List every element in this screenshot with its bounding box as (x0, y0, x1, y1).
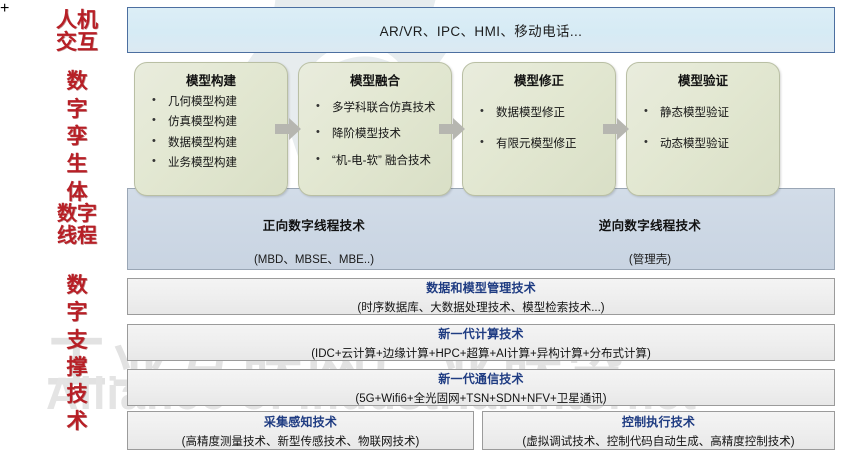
model-box-correction[interactable]: 模型修正 数据模型修正 有限元模型修正 (462, 62, 616, 196)
support-row-title: 新一代通信技术 (438, 370, 523, 387)
rail-label-human-machine-interaction: 人机 交互 (42, 10, 112, 54)
list-item: 几何模型构建 (149, 95, 281, 109)
rail-label-digital-twin: 数 字 孪 生 体 (56, 68, 98, 207)
support-row-control-execution[interactable]: 控制执行技术 (虚拟调试技术、控制代码自动生成、高精度控制技术) (482, 411, 835, 450)
model-box-construction-list: 几何模型构建 仿真模型构建 数据模型构建 业务模型构建 (135, 95, 287, 171)
digital-thread-band: 正向数字线程技术 (MBD、MBSE、MBE..) 逆向数字线程技术 (管理壳) (127, 188, 835, 270)
diagram-canvas: 工业互联网产业联盟 Alliance of Industrial Interne… (0, 0, 841, 463)
list-item: 业务模型构建 (149, 156, 281, 170)
list-item: 仿真模型构建 (149, 115, 281, 129)
arrow-right-icon (275, 117, 301, 141)
list-item: 数据模型构建 (149, 136, 281, 150)
thread-reverse-title: 逆向数字线程技术 (500, 215, 800, 234)
support-row-subtitle: (5G+Wifi6+全光固网+TSN+SDN+NFV+卫星通讯) (355, 390, 606, 406)
support-row-subtitle: (虚拟调试技术、控制代码自动生成、高精度控制技术) (522, 433, 794, 449)
model-box-construction[interactable]: 模型构建 几何模型构建 仿真模型构建 数据模型构建 业务模型构建 (134, 62, 288, 196)
model-box-fusion-list: 多学科联合仿真技术 降阶模型技术 “机-电-软” 融合技术 (299, 101, 451, 168)
rail-label-digital-thread: 数字 线程 (46, 203, 108, 248)
list-item: 降阶模型技术 (313, 127, 445, 141)
model-box-construction-title: 模型构建 (135, 70, 287, 89)
support-row-title: 控制执行技术 (622, 413, 695, 430)
list-item: 多学科联合仿真技术 (313, 101, 445, 115)
support-row-sensing-acquisition[interactable]: 采集感知技术 (高精度测量技术、新型传感技术、物联网技术) (127, 411, 474, 450)
thread-forward-title: 正向数字线程技术 (164, 215, 464, 234)
model-box-fusion[interactable]: 模型融合 多学科联合仿真技术 降阶模型技术 “机-电-软” 融合技术 (298, 62, 452, 196)
list-item: 静态模型验证 (641, 106, 773, 120)
hmi-banner: AR/VR、IPC、HMI、移动电话... (127, 7, 835, 53)
support-row-subtitle: (高精度测量技术、新型传感技术、物联网技术) (182, 433, 420, 449)
support-row-subtitle: (时序数据库、大数据处理技术、模型检索技术...) (357, 299, 604, 315)
thread-forward-subtitle: (MBD、MBSE、MBE..) (164, 251, 464, 267)
support-row-next-gen-computing[interactable]: 新一代计算技术 (IDC+云计算+边缘计算+HPC+超算+AI计算+异构计算+分… (127, 324, 835, 361)
arrow-right-icon (439, 117, 465, 141)
model-box-fusion-title: 模型融合 (299, 70, 451, 89)
model-box-correction-list: 数据模型修正 有限元模型修正 (463, 106, 615, 152)
thread-reverse-subtitle: (管理壳) (500, 251, 800, 267)
support-row-title: 数据和模型管理技术 (426, 279, 536, 296)
list-item: “机-电-软” 融合技术 (313, 154, 445, 168)
support-row-title: 采集感知技术 (264, 413, 337, 430)
support-row-next-gen-communication[interactable]: 新一代通信技术 (5G+Wifi6+全光固网+TSN+SDN+NFV+卫星通讯) (127, 369, 835, 406)
model-box-verification-list: 静态模型验证 动态模型验证 (627, 106, 779, 152)
rail-label-digital-support-technology: 数 字 支 撑 技 术 (56, 272, 98, 436)
model-box-verification-title: 模型验证 (627, 70, 779, 89)
support-row-title: 新一代计算技术 (438, 325, 523, 342)
support-row-subtitle: (IDC+云计算+边缘计算+HPC+超算+AI计算+异构计算+分布式计算) (311, 345, 651, 361)
thread-reverse-column: 逆向数字线程技术 (管理壳) (500, 215, 800, 267)
model-box-correction-title: 模型修正 (463, 70, 615, 89)
list-item: 数据模型修正 (477, 106, 609, 120)
model-box-verification[interactable]: 模型验证 静态模型验证 动态模型验证 (626, 62, 780, 196)
support-row-data-model-management[interactable]: 数据和模型管理技术 (时序数据库、大数据处理技术、模型检索技术...) (127, 278, 835, 315)
layer-label-rail: 人机 交互 数 字 孪 生 体 数字 线程 数 字 支 撑 技 术 (0, 0, 122, 463)
list-item: 有限元模型修正 (477, 137, 609, 151)
thread-forward-column: 正向数字线程技术 (MBD、MBSE、MBE..) (164, 215, 464, 267)
list-item: 动态模型验证 (641, 137, 773, 151)
arrow-right-icon (603, 117, 629, 141)
hmi-banner-text: AR/VR、IPC、HMI、移动电话... (380, 20, 583, 40)
